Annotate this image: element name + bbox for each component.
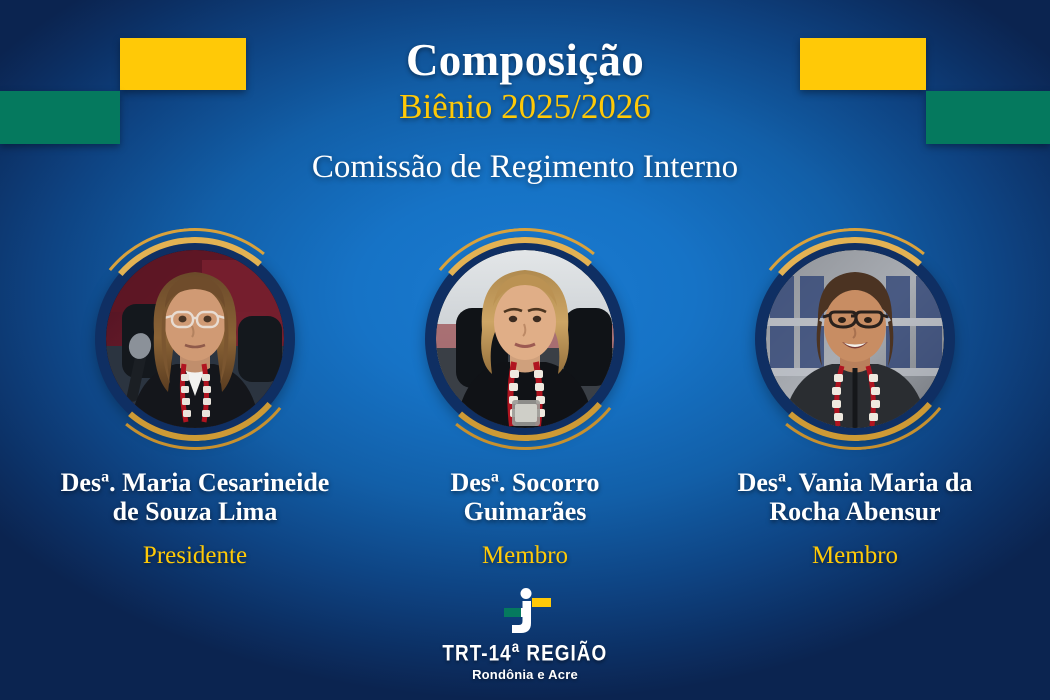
portrait-photo-1	[106, 250, 284, 428]
portrait-slot-2	[414, 228, 636, 450]
portrait-photo-3	[766, 250, 944, 428]
member-card-2: Desa. SocorroGuimarães Membro	[360, 228, 690, 570]
footer-logo: TRT-14a REGIÃO Rondônia e Acre	[0, 587, 1050, 682]
portrait-slot-3	[744, 228, 966, 450]
page-title: Composição	[0, 34, 1050, 86]
portrait-frame-3	[744, 228, 966, 450]
members-row: Desa. Maria Cesarineidede Souza Lima Pre…	[0, 228, 1050, 570]
member-name-1: Desa. Maria Cesarineidede Souza Lima	[55, 468, 336, 526]
portrait-frame-1	[84, 228, 306, 450]
portrait-photo-2	[436, 250, 614, 428]
member-role-2: Membro	[482, 542, 568, 570]
commission-name: Comissão de Regimento Interno	[0, 149, 1050, 186]
organization-region: Rondônia e Acre	[472, 667, 578, 682]
member-name-3: Desa. Vania Maria daRocha Abensur	[732, 468, 979, 526]
member-name-2: Desa. SocorroGuimarães	[444, 468, 605, 526]
member-card-1: Desa. Maria Cesarineidede Souza Lima Pre…	[30, 228, 360, 570]
portrait-frame-2	[414, 228, 636, 450]
organization-name: TRT-14a REGIÃO	[443, 639, 608, 666]
member-role-3: Membro	[812, 542, 898, 570]
poster-header: Composição Biênio 2025/2026 Comissão de …	[0, 0, 1050, 186]
member-card-3: Desa. Vania Maria daRocha Abensur Membro	[690, 228, 1020, 570]
trt-j-figure-logo-icon	[496, 587, 554, 637]
poster-canvas: Composição Biênio 2025/2026 Comissão de …	[0, 0, 1050, 700]
member-role-1: Presidente	[143, 542, 247, 570]
portrait-slot-1	[84, 228, 306, 450]
biennium-subtitle: Biênio 2025/2026	[0, 87, 1050, 127]
